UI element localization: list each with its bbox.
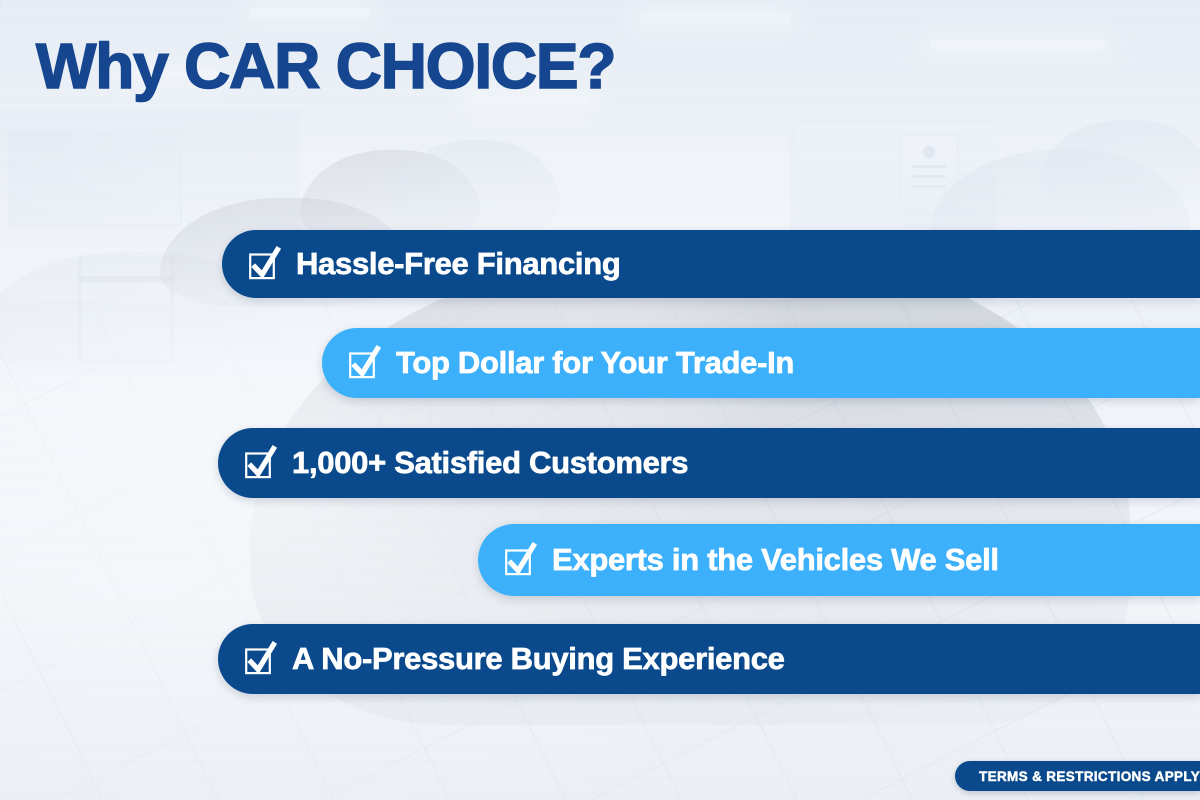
- terms-badge-label: TERMS & RESTRICTIONS APPLY: [979, 769, 1200, 784]
- promo-banner: Why CAR CHOICE? Hassle-Free Financing To…: [0, 0, 1200, 800]
- benefit-label: Hassle-Free Financing: [296, 246, 620, 282]
- benefit-row-4[interactable]: Experts in the Vehicles We Sell: [478, 524, 1200, 596]
- checkbox-checked-icon: [504, 544, 536, 576]
- benefit-row-5[interactable]: A No-Pressure Buying Experience: [218, 624, 1200, 694]
- benefit-label: 1,000+ Satisfied Customers: [292, 445, 688, 481]
- benefit-label: Top Dollar for Your Trade-In: [396, 345, 794, 381]
- benefit-label: Experts in the Vehicles We Sell: [552, 542, 999, 578]
- benefit-row-3[interactable]: 1,000+ Satisfied Customers: [218, 428, 1200, 498]
- checkbox-checked-icon: [244, 643, 276, 675]
- terms-badge[interactable]: TERMS & RESTRICTIONS APPLY: [955, 761, 1200, 791]
- checkbox-checked-icon: [248, 248, 280, 280]
- checkbox-checked-icon: [348, 347, 380, 379]
- benefit-label: A No-Pressure Buying Experience: [292, 641, 785, 677]
- page-title: Why CAR CHOICE?: [36, 34, 615, 98]
- benefit-row-2[interactable]: Top Dollar for Your Trade-In: [322, 328, 1200, 398]
- benefit-row-1[interactable]: Hassle-Free Financing: [222, 230, 1200, 298]
- checkbox-checked-icon: [244, 447, 276, 479]
